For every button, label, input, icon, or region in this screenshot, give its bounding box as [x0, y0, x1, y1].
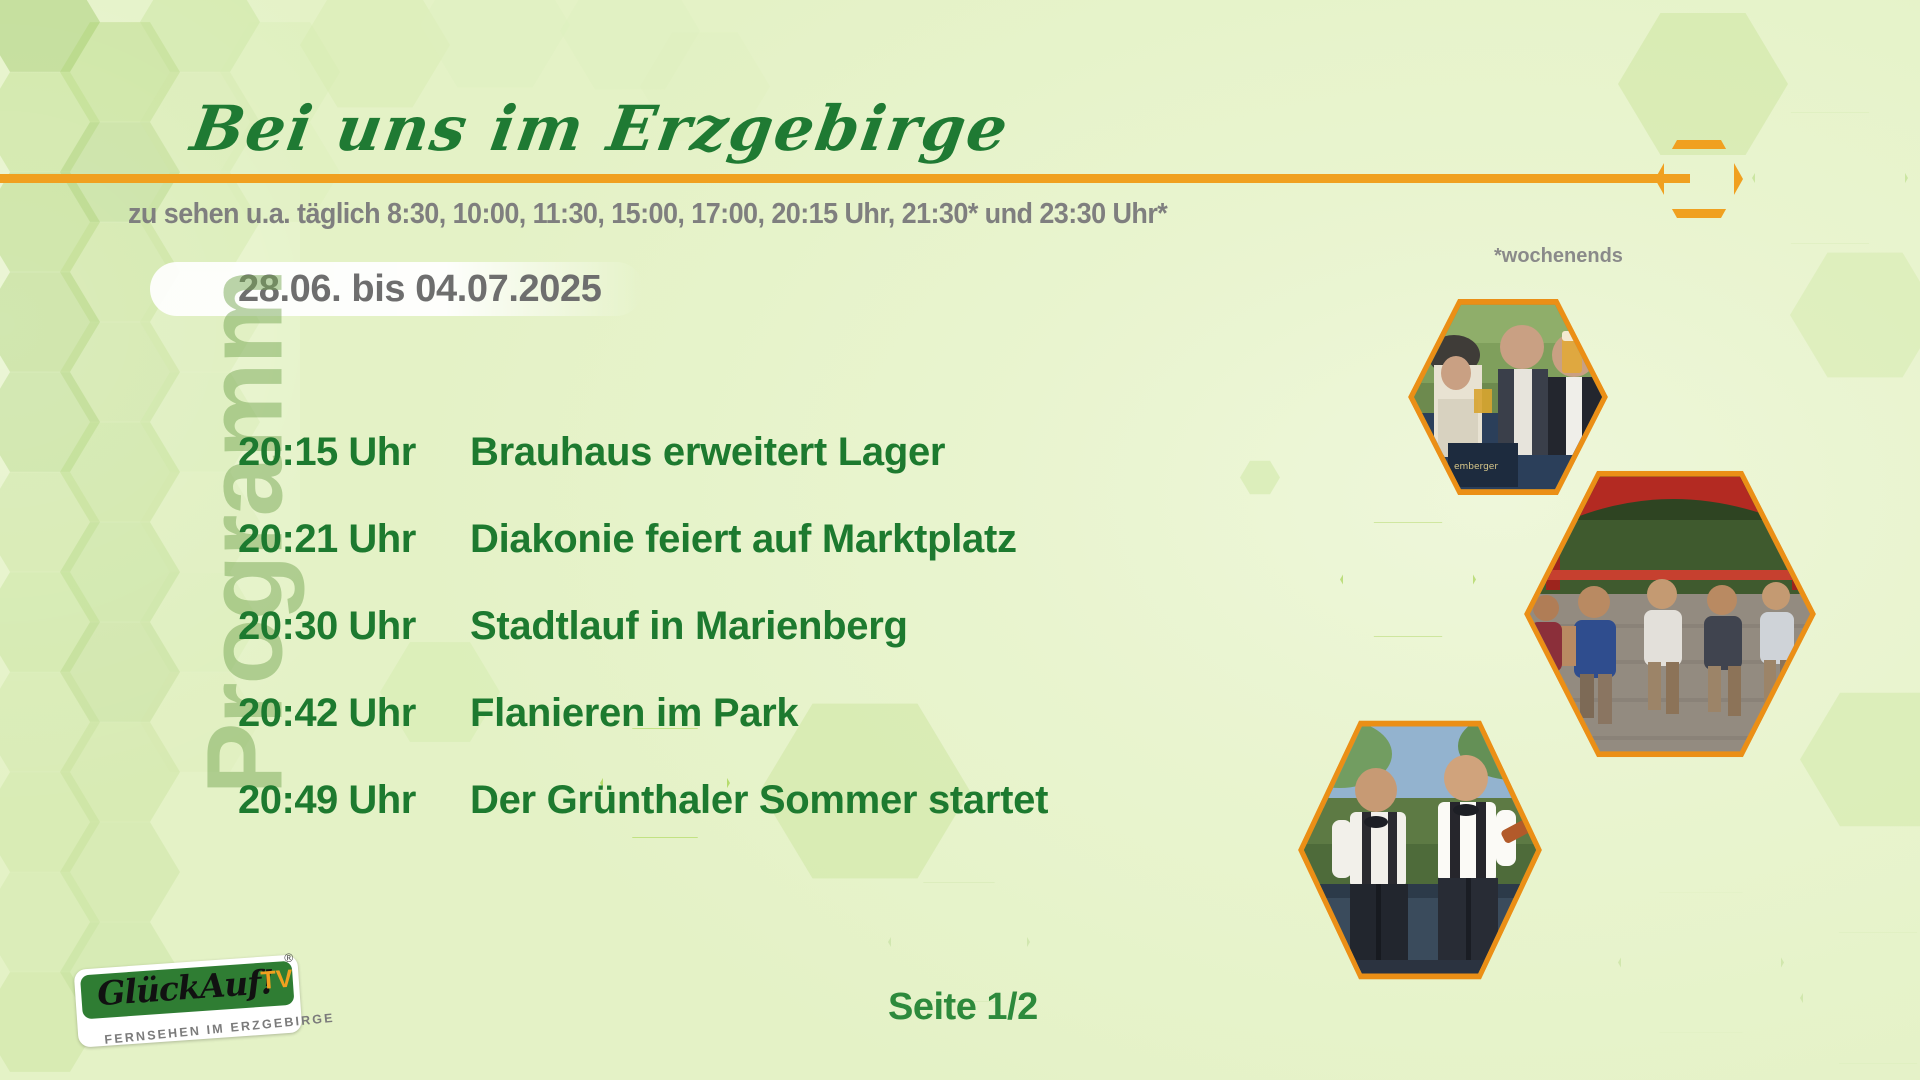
show-title: Bei uns im Erzgebirge	[186, 92, 1014, 165]
date-range-badge: 28.06. bis 04.07.2025	[150, 262, 643, 316]
date-range-text: 28.06. bis 04.07.2025	[238, 268, 601, 311]
page-indicator: Seite 1/2	[888, 986, 1038, 1029]
photo-illustration	[1304, 724, 1536, 976]
rule-end-hex-icon	[1655, 140, 1743, 218]
program-time: 20:15 Uhr	[238, 430, 470, 475]
bg-hex	[420, 0, 570, 90]
bg-hex	[0, 670, 100, 774]
photo-inner	[1304, 724, 1536, 976]
bg-hex-outline	[1618, 890, 1784, 1035]
program-title: Diakonie feiert auf Marktplatz	[470, 517, 1017, 562]
bg-hex	[1240, 460, 1280, 495]
bg-hex	[0, 270, 100, 374]
photo-city-run-runners	[1524, 468, 1816, 760]
bg-hex	[0, 370, 100, 474]
logo-tv-suffix: TV	[260, 965, 294, 996]
title-underline-rule	[0, 174, 1690, 183]
bg-hex	[60, 820, 180, 924]
photo-illustration	[1530, 474, 1810, 754]
bg-hex	[0, 870, 100, 974]
program-list: 20:15 Uhr Brauhaus erweitert Lager 20:21…	[238, 430, 1218, 865]
program-title: Der Grünthaler Sommer startet	[470, 778, 1048, 823]
bg-hex	[60, 320, 180, 424]
program-time: 20:30 Uhr	[238, 604, 470, 649]
program-time: 20:42 Uhr	[238, 691, 470, 736]
program-row: 20:42 Uhr Flanieren im Park	[238, 691, 1218, 778]
bg-hex	[0, 0, 100, 74]
bg-hex-outline	[1752, 110, 1908, 246]
program-title: Flanieren im Park	[470, 691, 798, 736]
bg-hex	[60, 20, 180, 124]
bg-hex	[0, 770, 100, 874]
photo-dancers-in-suspenders	[1298, 718, 1542, 982]
bg-hex	[1790, 250, 1920, 380]
program-row: 20:49 Uhr Der Grünthaler Sommer startet	[238, 778, 1218, 865]
program-time: 20:21 Uhr	[238, 517, 470, 562]
bg-hex	[60, 620, 180, 724]
bg-hex	[1618, 10, 1788, 158]
airtimes-footnote: *wochenends	[1494, 245, 1623, 268]
bg-hex	[0, 70, 100, 174]
bg-hex-outline	[1800, 930, 1920, 1066]
bg-hex	[60, 720, 180, 824]
bg-hex	[60, 520, 180, 624]
program-row: 20:30 Uhr Stadtlauf in Marienberg	[238, 604, 1218, 691]
channel-logo: GlückAuf! TV ® FERNSEHEN IM ERZGEBIRGE	[74, 954, 303, 1047]
program-row: 20:15 Uhr Brauhaus erweitert Lager	[238, 430, 1218, 517]
photo-men-with-beer-glasses: emberger	[1408, 297, 1608, 497]
broadcast-program-slide: Bei uns im Erzgebirge zu sehen u.a. tägl…	[0, 0, 1920, 1080]
svg-text:emberger: emberger	[1454, 462, 1498, 472]
bg-hex	[60, 420, 180, 524]
bg-hex	[1800, 690, 1920, 829]
bg-hex-outline	[1340, 520, 1476, 639]
bg-hex	[0, 570, 100, 674]
program-title: Brauhaus erweitert Lager	[470, 430, 945, 475]
program-row: 20:21 Uhr Diakonie feiert auf Marktplatz	[238, 517, 1218, 604]
bg-hex	[140, 0, 260, 74]
bg-hex	[0, 470, 100, 574]
airtimes-text: zu sehen u.a. täglich 8:30, 10:00, 11:30…	[128, 198, 1167, 231]
bg-hex	[560, 0, 700, 92]
program-time: 20:49 Uhr	[238, 778, 470, 823]
logo-registered-mark: ®	[284, 951, 294, 966]
bg-hex	[0, 170, 100, 274]
program-title: Stadtlauf in Marienberg	[470, 604, 908, 649]
photo-inner	[1530, 474, 1810, 754]
